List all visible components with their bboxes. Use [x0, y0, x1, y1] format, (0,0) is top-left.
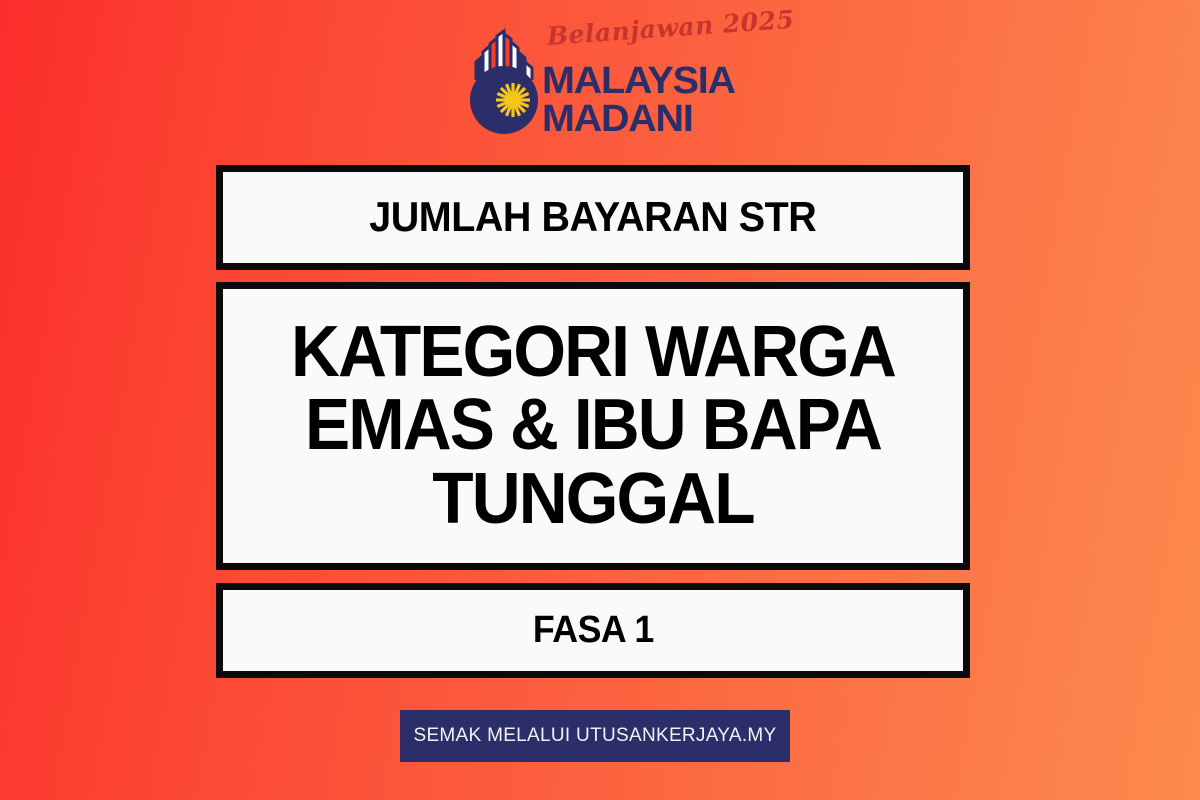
panel-fasa-text: FASA 1 [533, 611, 654, 650]
logo-wordmark: Belanjawan 2025 MALAYSIA MADANI [542, 22, 738, 142]
crescent-star-building-icon [466, 28, 546, 140]
semak-cta-label: SEMAK MELALUI UTUSANKERJAYA.MY [413, 725, 776, 747]
wordmark-madani: MADANI [542, 100, 693, 138]
budget-tagline: Belanjawan 2025 [546, 5, 795, 51]
panel-jumlah-text: JUMLAH BAYARAN STR [369, 196, 816, 239]
panel-kategori: KATEGORI WARGA EMAS & IBU BAPA TUNGGAL [216, 282, 970, 570]
panel-jumlah-bayaran: JUMLAH BAYARAN STR [216, 165, 970, 270]
malaysia-madani-logo: Belanjawan 2025 MALAYSIA MADANI [466, 22, 736, 142]
panel-fasa: FASA 1 [216, 583, 970, 678]
poster-canvas: Belanjawan 2025 MALAYSIA MADANI JUMLAH B… [0, 0, 1200, 800]
semak-cta-button[interactable]: SEMAK MELALUI UTUSANKERJAYA.MY [400, 710, 790, 762]
wordmark-malaysia: MALAYSIA [542, 62, 735, 100]
malaysia-madani-logo-mark [466, 28, 546, 140]
panel-kategori-text: KATEGORI WARGA EMAS & IBU BAPA TUNGGAL [245, 316, 941, 536]
